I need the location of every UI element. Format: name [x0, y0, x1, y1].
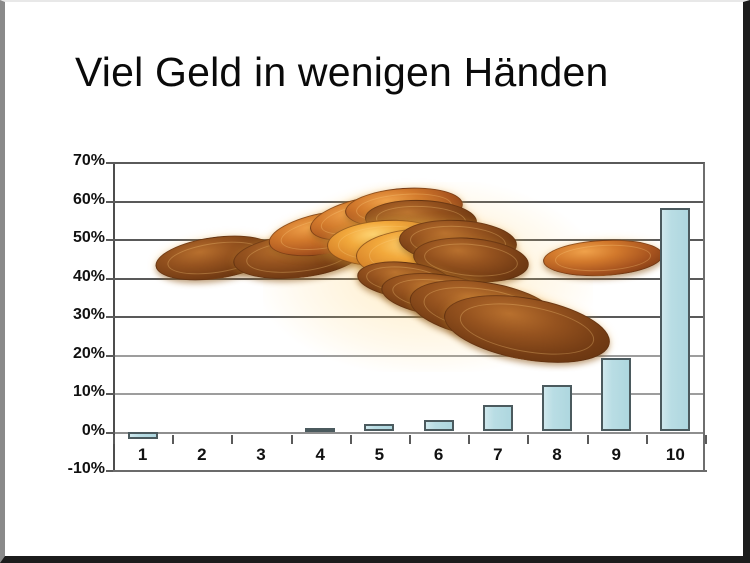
x-tick [113, 435, 115, 444]
x-axis-label: 4 [291, 445, 349, 465]
x-axis-label: 1 [114, 445, 172, 465]
bar-5 [364, 424, 394, 432]
bar-7 [483, 405, 513, 432]
bar-9 [601, 358, 631, 431]
y-axis-label: 50% [47, 229, 105, 247]
x-axis-label: 2 [173, 445, 231, 465]
bar-6 [424, 420, 454, 432]
x-tick [409, 435, 411, 444]
x-tick [646, 435, 648, 444]
x-tick [350, 435, 352, 444]
x-axis-label: 6 [410, 445, 468, 465]
y-axis-label: 10% [47, 383, 105, 401]
x-axis-label: 5 [350, 445, 408, 465]
x-tick [231, 435, 233, 444]
y-axis-label: 30% [47, 306, 105, 324]
bar-10 [660, 208, 690, 431]
bar-8 [542, 385, 572, 431]
bar-series [113, 162, 705, 470]
x-axis-label: 3 [232, 445, 290, 465]
x-axis-ticks [113, 435, 705, 445]
x-axis-label: 9 [587, 445, 645, 465]
y-axis-labels: -10%0%10%20%30%40%50%60%70% [41, 162, 105, 470]
x-axis-label: 8 [528, 445, 586, 465]
y-axis-label: 0% [47, 422, 105, 440]
x-tick [291, 435, 293, 444]
x-tick [468, 435, 470, 444]
bar-4 [305, 428, 335, 432]
x-axis-labels: 12345678910 [113, 445, 705, 471]
x-tick [527, 435, 529, 444]
slide-frame: Viel Geld in wenigen Händen -10%0%10%20%… [0, 0, 750, 563]
x-tick [172, 435, 174, 444]
y-axis-label: 70% [47, 152, 105, 170]
y-axis-label: 60% [47, 191, 105, 209]
y-axis-label: 20% [47, 345, 105, 363]
page-title: Viel Geld in wenigen Händen [75, 44, 695, 100]
x-tick [587, 435, 589, 444]
y-axis-label: -10% [47, 460, 105, 478]
slide-canvas: Viel Geld in wenigen Händen -10%0%10%20%… [5, 2, 743, 556]
x-axis-label: 7 [469, 445, 527, 465]
y-axis-label: 40% [47, 268, 105, 286]
x-tick [705, 435, 707, 444]
x-axis-label: 10 [646, 445, 704, 465]
